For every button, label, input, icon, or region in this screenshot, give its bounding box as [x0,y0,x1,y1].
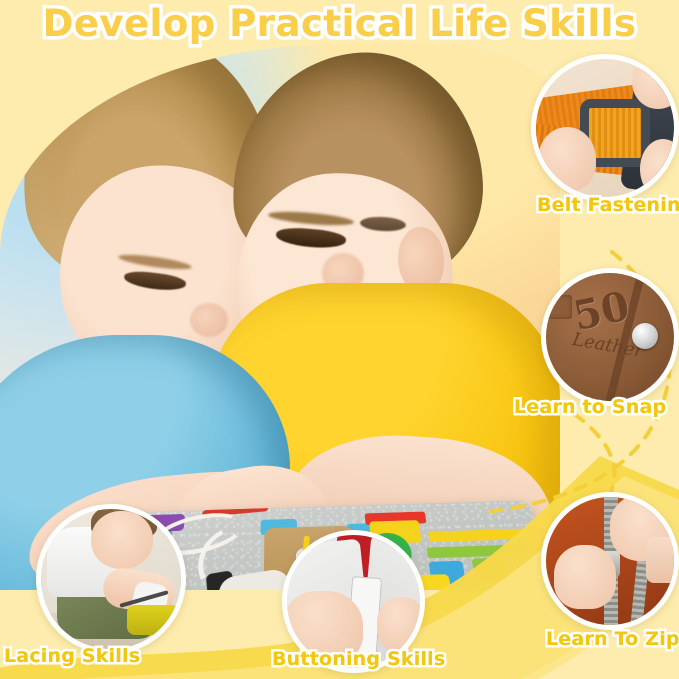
callout-label-buttoning-fill: Buttoning Skills [272,648,445,670]
board-green-long-strip [426,544,526,558]
lacing-yellow-shoe [127,605,185,635]
lacing-child-face [91,511,153,569]
snap-photo: 50 Leather [546,273,674,401]
buttoning-hand-right [377,597,425,653]
belt-finger-upper [632,55,679,109]
page-title: Develop Practical Life Skills [0,2,679,45]
callout-photo-belt[interactable] [531,54,679,202]
board-light-green-square [472,558,511,583]
callout-photo-lacing[interactable] [36,504,186,654]
callout-photo-snap[interactable]: 50 Leather [541,268,679,406]
blue-shirt-boy-nose [190,303,228,337]
zip-photo [546,497,674,625]
callout-label-snap-fill: Learn to Snap [514,396,666,418]
board-yellow-long-strip [428,528,536,542]
snap-metal-stud [632,323,658,349]
product-infographic: Belt Fastening Belt Fastening 50 Leather… [0,0,679,679]
belt-photo [536,59,674,197]
lacing-photo [41,509,181,649]
callout-photo-zip[interactable] [541,492,679,630]
zip-wrist [646,537,679,583]
callout-label-zip-fill: Learn To Zip [546,628,679,650]
callout-label-lacing-fill: Lacing Skills [4,645,140,667]
belt-thumb [538,127,596,191]
belt-finger-lower [640,139,679,199]
callout-label-belt-fill: Belt Fastening [537,194,679,216]
snap-leather-tag [542,295,572,319]
zip-hand-left [554,545,616,609]
